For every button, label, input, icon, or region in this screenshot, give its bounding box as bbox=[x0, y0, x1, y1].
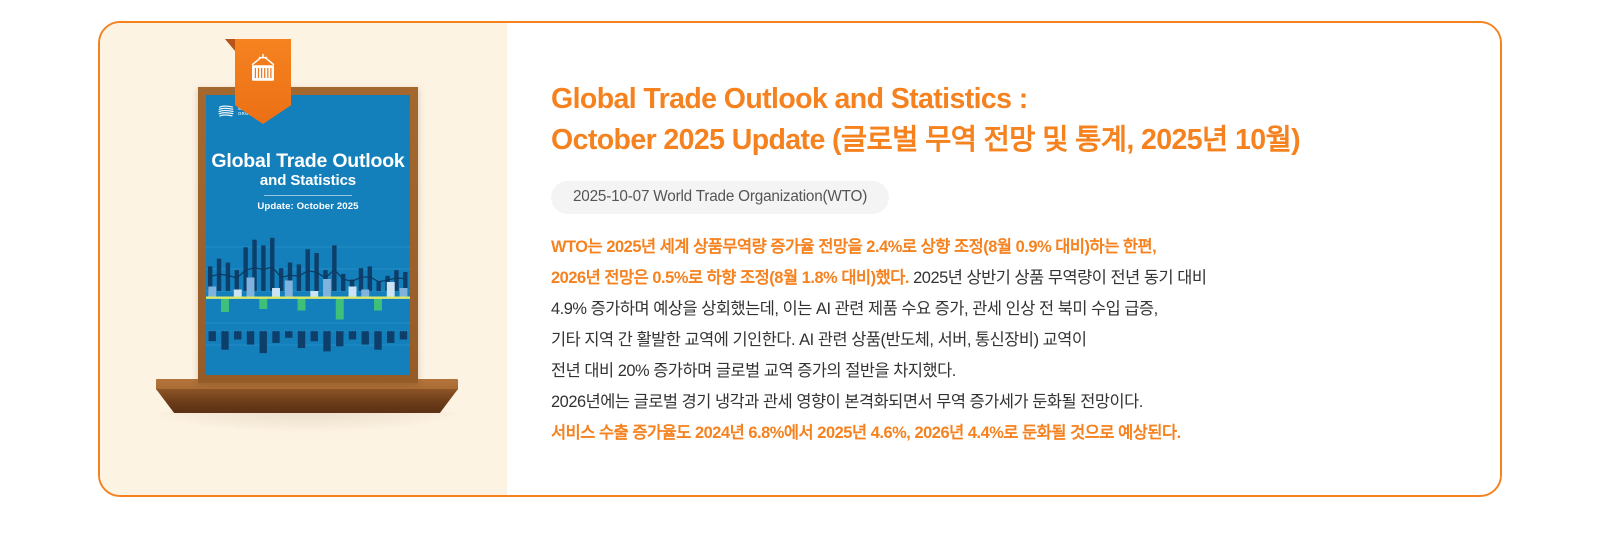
cover-title-line2: and Statistics bbox=[206, 172, 410, 189]
summary-line: 2026년 전망은 0.5%로 하향 조정(8월 1.8% 대비)했다. 202… bbox=[551, 263, 1500, 294]
book-frame: WORLD TRADE ORGANIZATION Global Trade Ou… bbox=[198, 87, 418, 383]
cover-update-label: Update: October 2025 bbox=[206, 201, 410, 212]
summary-line: 기타 지역 간 활발한 교역에 기인한다. AI 관련 상품(반도체, 서버, … bbox=[551, 325, 1500, 356]
summary-plain: 기타 지역 간 활발한 교역에 기인한다. AI 관련 상품(반도체, 서버, … bbox=[551, 331, 1087, 349]
summary-plain: 4.9% 증가하며 예상을 상회했는데, 이는 AI 관련 제품 수요 증가, … bbox=[551, 300, 1158, 318]
summary-plain: 2025년 상반기 상품 무역량이 전년 동기 대비 bbox=[909, 269, 1206, 287]
cover-chart-axis-band bbox=[206, 297, 410, 299]
summary-line: WTO는 2025년 세계 상품무역량 증가율 전망을 2.4%로 상향 조정(… bbox=[551, 232, 1500, 263]
page-title-line2: October 2025 Update (글로벌 무역 전망 및 통계, 202… bbox=[551, 120, 1500, 161]
summary-line: 서비스 수출 증가율도 2024년 6.8%에서 2025년 4.6%, 202… bbox=[551, 418, 1500, 449]
page-title: Global Trade Outlook and Statistics : Oc… bbox=[551, 79, 1500, 162]
summary-line: 2026년에는 글로벌 경기 냉각과 관세 영향이 본격화되면서 무역 증가세가… bbox=[551, 387, 1500, 418]
shipping-container-icon bbox=[246, 53, 280, 87]
cover-chart-bottom-bars bbox=[209, 331, 408, 353]
summary-line: 4.9% 증가하며 예상을 상회했는데, 이는 AI 관련 제품 수요 증가, … bbox=[551, 294, 1500, 325]
summary-plain: 2026년에는 글로벌 경기 냉각과 관세 영향이 본격화되면서 무역 증가세가… bbox=[551, 393, 1143, 411]
book-cover: WORLD TRADE ORGANIZATION Global Trade Ou… bbox=[206, 95, 410, 375]
publication-meta-badge: 2025-10-07 World Trade Organization(WTO) bbox=[551, 181, 889, 214]
cover-title-line1: Global Trade Outlook bbox=[206, 150, 410, 173]
bookmark-ribbon bbox=[235, 39, 291, 124]
summary-highlight: 서비스 수출 증가율도 2024년 6.8%에서 2025년 4.6%, 202… bbox=[551, 424, 1181, 442]
summary-highlight: WTO는 2025년 세계 상품무역량 증가율 전망을 2.4%로 상향 조정(… bbox=[551, 238, 1156, 256]
cover-chart-graphic bbox=[206, 233, 410, 375]
shelf-front-face bbox=[156, 389, 458, 413]
wto-mark-icon bbox=[218, 105, 234, 118]
summary-highlight: 2026년 전망은 0.5%로 하향 조정(8월 1.8% 대비)했다. bbox=[551, 269, 909, 287]
book-display-panel: WORLD TRADE ORGANIZATION Global Trade Ou… bbox=[100, 23, 507, 495]
page-title-line1: Global Trade Outlook and Statistics : bbox=[551, 79, 1500, 120]
cover-divider bbox=[264, 195, 352, 196]
cover-chart-top-bars bbox=[208, 238, 408, 291]
summary-body: WTO는 2025년 세계 상품무역량 증가율 전망을 2.4%로 상향 조정(… bbox=[551, 232, 1500, 449]
report-card: WORLD TRADE ORGANIZATION Global Trade Ou… bbox=[98, 21, 1502, 497]
screenshot-root: WORLD TRADE ORGANIZATION Global Trade Ou… bbox=[0, 0, 1600, 540]
summary-line: 전년 대비 20% 증가하며 글로벌 교역 증가의 절반을 차지했다. bbox=[551, 356, 1500, 387]
report-content-panel: Global Trade Outlook and Statistics : Oc… bbox=[507, 23, 1500, 495]
wooden-shelf bbox=[156, 379, 458, 415]
ribbon-fold bbox=[225, 39, 235, 51]
summary-plain: 전년 대비 20% 증가하며 글로벌 교역 증가의 절반을 차지했다. bbox=[551, 362, 956, 380]
